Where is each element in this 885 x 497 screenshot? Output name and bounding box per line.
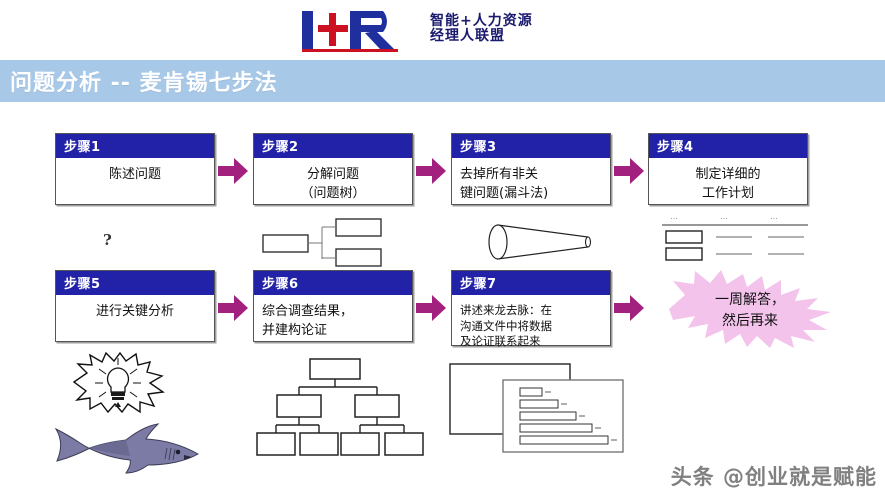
svg-text:…: … [670, 212, 678, 221]
hr-logo-icon [300, 7, 420, 51]
arrow-step6-to-step7 [416, 295, 446, 321]
step-1-label: 步骤1 [56, 134, 214, 158]
step-box-6[interactable]: 步骤6 综合调查结果，并建构论证 [253, 270, 413, 342]
watermark-text: 头条 @创业就是赋能 [671, 461, 877, 491]
step-6-label: 步骤6 [254, 271, 412, 295]
logo-tagline: 智能+人力资源 经理人联盟 [430, 14, 533, 45]
arrow-step2-to-step3 [416, 158, 446, 184]
step-4-label: 步骤4 [649, 134, 807, 158]
step-6-text: 综合调查结果，并建构论证 [254, 295, 412, 345]
arrow-step7-to-result [614, 295, 644, 321]
result-starburst-text: 一周解答，然后再来 [655, 290, 845, 332]
step-3-text: 去掉所有非关键问题(漏斗法) [452, 158, 610, 208]
step-box-3[interactable]: 步骤3 去掉所有非关键问题(漏斗法) [451, 133, 611, 205]
step-2-text: 分解问题（问题树） [254, 158, 412, 208]
issue-tree-diagram [262, 218, 382, 273]
workplan-gantt-diagram: … … … [660, 210, 810, 270]
lightbulb-idea-graphic [68, 352, 168, 419]
arrow-step3-to-step4 [614, 158, 644, 184]
shark-graphic [48, 415, 203, 482]
step-1-text: 陈述问题 [56, 158, 214, 189]
title-band: 问题分析 -- 麦肯锡七步法 [0, 60, 885, 102]
result-starburst: 一周解答，然后再来 [655, 268, 845, 350]
step-4-text: 制定详细的工作计划 [649, 158, 807, 208]
funnel-cone-diagram [484, 216, 604, 273]
svg-text:…: … [770, 212, 778, 221]
logo-tagline-line2: 经理人联盟 [430, 29, 533, 44]
step-box-7[interactable]: 步骤7 讲述来龙去脉：在沟通文件中将数据及论证联系起来 [451, 270, 611, 346]
step-2-label: 步骤2 [254, 134, 412, 158]
step-box-5[interactable]: 步骤5 进行关键分析 [55, 270, 215, 342]
slide-canvas: 智能+人力资源 经理人联盟 问题分析 -- 麦肯锡七步法 步骤1 陈述问题 步骤… [0, 0, 885, 497]
svg-text:…: … [720, 212, 728, 221]
hierarchy-tree-diagram [255, 358, 430, 463]
arrow-step5-to-step6 [218, 295, 248, 321]
question-mark-label: ? [103, 231, 112, 249]
step-box-2[interactable]: 步骤2 分解问题（问题树） [253, 133, 413, 205]
page-title: 问题分析 -- 麦肯锡七步法 [0, 65, 278, 97]
arrow-step1-to-step2 [218, 158, 248, 184]
step-box-1[interactable]: 步骤1 陈述问题 [55, 133, 215, 205]
logo-tagline-line1: 智能+人力资源 [430, 14, 533, 29]
step-7-text: 讲述来龙去脉：在沟通文件中将数据及论证联系起来 [452, 295, 610, 354]
step-box-4[interactable]: 步骤4 制定详细的工作计划 [648, 133, 808, 205]
step-5-label: 步骤5 [56, 271, 214, 295]
step-7-label: 步骤7 [452, 271, 610, 295]
step-5-text: 进行关键分析 [56, 295, 214, 326]
slides-bar-chart-graphic [448, 362, 633, 465]
step-3-label: 步骤3 [452, 134, 610, 158]
brand-logo: 智能+人力资源 经理人联盟 [300, 4, 600, 54]
